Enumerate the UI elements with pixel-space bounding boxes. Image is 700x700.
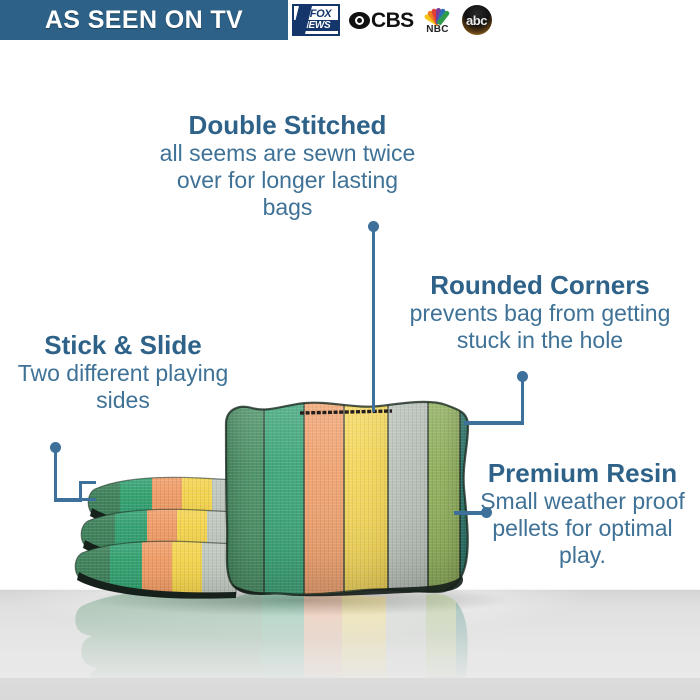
as-seen-on-tv-banner: AS SEEN ON TV <box>0 0 288 40</box>
callout-rounded-corners: Rounded Corners prevents bag from gettin… <box>390 270 690 354</box>
banner-label: AS SEEN ON TV <box>45 6 243 35</box>
callout-premium-resin-body: Small weather proof pellets for optimal … <box>470 488 695 569</box>
rounded-corners-leader-line-horizontal <box>464 421 524 425</box>
rounded-corners-leader-line-vertical <box>521 378 524 424</box>
abc-logo-text: abc <box>466 14 487 27</box>
front-bag <box>220 396 480 602</box>
nbc-logo: NBC <box>423 5 453 35</box>
nbc-logo-text: NBC <box>426 24 449 35</box>
callout-stick-and-slide-heading: Stick & Slide <box>8 330 238 360</box>
callout-stick-and-slide-body: Two different playing sides <box>8 360 238 414</box>
abc-logo: abc <box>462 5 492 35</box>
infographic-canvas: AS SEEN ON TV FOX NEWS CBS NBC abc <box>0 0 700 700</box>
stick-slide-leader-line-vertical <box>54 449 57 501</box>
cbs-eye-icon <box>349 12 370 29</box>
stick-slide-bracket-bottom <box>79 498 96 501</box>
callout-double-stitched-body: all seems are sewn twice over for longer… <box>150 140 425 221</box>
callout-rounded-corners-heading: Rounded Corners <box>390 270 690 300</box>
callout-stick-and-slide: Stick & Slide Two different playing side… <box>8 330 238 414</box>
callout-premium-resin: Premium Resin Small weather proof pellet… <box>470 458 695 569</box>
cbs-logo-text: CBS <box>371 10 414 31</box>
callout-premium-resin-heading: Premium Resin <box>470 458 695 488</box>
callout-rounded-corners-body: prevents bag from getting stuck in the h… <box>390 300 690 354</box>
stick-slide-bracket-top <box>79 481 96 484</box>
fox-news-logo: FOX NEWS <box>292 4 340 36</box>
fox-logo-line1: FOX <box>310 9 331 20</box>
callout-double-stitched-heading: Double Stitched <box>150 110 425 140</box>
stick-slide-leader-line-horizontal <box>54 498 82 502</box>
double-stitched-leader-line <box>372 228 375 412</box>
callout-double-stitched: Double Stitched all seems are sewn twice… <box>150 110 425 221</box>
cbs-logo: CBS <box>349 10 414 31</box>
network-logos: FOX NEWS CBS NBC abc <box>292 2 492 38</box>
nbc-peacock-icon <box>423 5 453 24</box>
